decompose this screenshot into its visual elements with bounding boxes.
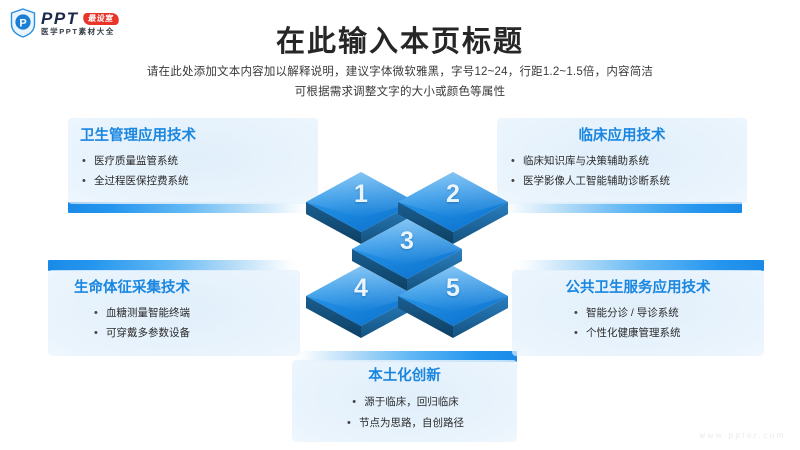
panel-heading: 生命体征采集技术 <box>74 280 288 297</box>
page-title: 在此输入本页标题 <box>0 18 800 60</box>
panel-bullet-list: 血糖测量智能终端 可穿戴多参数设备 <box>74 304 288 343</box>
footer-watermark: www.ppter.com <box>699 431 786 440</box>
panel-bullet-list: 临床知识库与决策辅助系统 医学影像人工智能辅助诊断系统 <box>509 152 735 191</box>
panel-bullet-list: 源于临床，回归临床 节点为思路，自创路径 <box>304 392 505 433</box>
subtitle-line-2: 可根据需求调整文字的大小或颜色等属性 <box>0 82 800 102</box>
list-item: 可穿戴多参数设备 <box>92 324 288 343</box>
panel-bullet-list: 医疗质量监管系统 全过程医保控费系统 <box>80 152 306 191</box>
panel-heading: 本土化创新 <box>304 368 505 385</box>
panel-bullet-list: 智能分诊 / 导诊系统 个性化健康管理系统 <box>524 304 752 343</box>
list-item: 智能分诊 / 导诊系统 <box>572 304 752 323</box>
panel-heading: 临床应用技术 <box>509 128 735 145</box>
panel-top-left[interactable]: 卫生管理应用技术 医疗质量监管系统 全过程医保控费系统 <box>68 118 318 204</box>
list-item: 源于临床，回归临床 <box>350 393 459 412</box>
panel-heading: 卫生管理应用技术 <box>80 128 306 145</box>
list-item: 医学影像人工智能辅助诊断系统 <box>509 172 735 191</box>
panel-bottom-center[interactable]: 本土化创新 源于临床，回归临床 节点为思路，自创路径 <box>292 360 517 442</box>
list-item: 血糖测量智能终端 <box>92 304 288 323</box>
list-item: 个性化健康管理系统 <box>572 324 752 343</box>
list-item: 临床知识库与决策辅助系统 <box>509 152 735 171</box>
panel-top-right[interactable]: 临床应用技术 临床知识库与决策辅助系统 医学影像人工智能辅助诊断系统 <box>497 118 747 204</box>
panel-bottom-left[interactable]: 生命体征采集技术 血糖测量智能终端 可穿戴多参数设备 <box>48 270 300 356</box>
panel-bottom-right[interactable]: 公共卫生服务应用技术 智能分诊 / 导诊系统 个性化健康管理系统 <box>512 270 764 356</box>
list-item: 全过程医保控费系统 <box>80 172 306 191</box>
list-item: 医疗质量监管系统 <box>80 152 306 171</box>
isometric-block-diagram: 1 2 3 <box>290 160 520 360</box>
page-subtitle: 请在此处添加文本内容加以解释说明，建议字体微软雅黑，字号12~24，行距1.2~… <box>0 62 800 102</box>
block-5[interactable]: 5 <box>394 262 512 348</box>
subtitle-line-1: 请在此处添加文本内容加以解释说明，建议字体微软雅黑，字号12~24，行距1.2~… <box>0 62 800 82</box>
panel-heading: 公共卫生服务应用技术 <box>524 280 752 297</box>
slide-canvas: P PPT 最设室 医学PPT素材大全 在此输入本页标题 请在此处添加文本内容加… <box>0 0 800 450</box>
list-item: 节点为思路，自创路径 <box>345 414 464 433</box>
